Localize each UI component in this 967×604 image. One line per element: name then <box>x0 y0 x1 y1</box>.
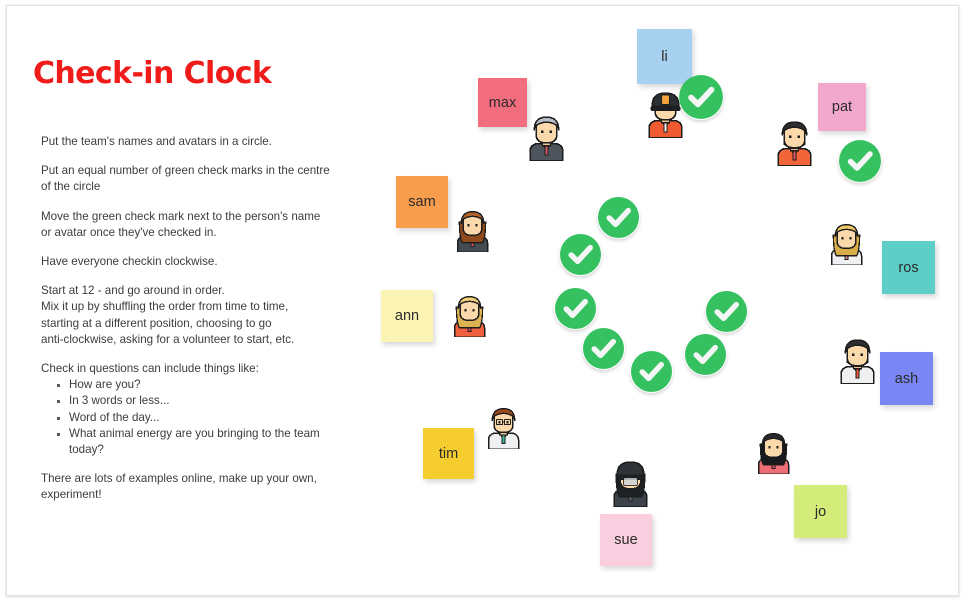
sticky-note-ash[interactable]: ash <box>880 352 933 405</box>
check-mark-pool-7[interactable] <box>705 290 748 333</box>
order-line-1: Start at 12 - and go around in order. <box>41 283 331 299</box>
page-title: Check-in Clock <box>33 56 271 91</box>
sticky-note-label: ann <box>395 308 419 324</box>
sticky-note-label: sue <box>614 532 637 548</box>
sticky-note-pat[interactable]: pat <box>818 83 866 131</box>
check-mark-pool-1[interactable] <box>597 196 640 239</box>
check-mark-pool-2[interactable] <box>559 233 602 276</box>
sticky-note-label: tim <box>439 446 458 462</box>
sticky-note-jo[interactable]: jo <box>794 485 847 538</box>
sticky-note-tim[interactable]: tim <box>423 428 474 479</box>
whiteboard-canvas: Check-in Clock Put the team's names and … <box>0 0 967 604</box>
check-mark-pool-6[interactable] <box>684 333 727 376</box>
check-in-questions-list: How are you? In 3 words or less... Word … <box>41 377 331 458</box>
ros-avatar[interactable] <box>824 220 869 265</box>
sticky-note-label: jo <box>815 504 826 520</box>
sticky-note-label: ash <box>895 371 918 387</box>
sticky-note-ann[interactable]: ann <box>381 290 433 342</box>
sticky-note-label: pat <box>832 99 852 115</box>
jo-avatar[interactable] <box>751 429 796 474</box>
sticky-note-sam[interactable]: sam <box>396 176 448 228</box>
instruction-paragraph-4: Have everyone checkin clockwise. <box>41 254 331 270</box>
closing-paragraph: There are lots of examples online, make … <box>41 471 331 503</box>
order-line-4: anti-clockwise, asking for a volunteer t… <box>41 332 331 348</box>
instruction-paragraph-3: Move the green check mark next to the pe… <box>41 209 331 241</box>
tim-avatar[interactable] <box>481 404 526 449</box>
order-line-2: Mix it up by shuffling the order from ti… <box>41 299 331 315</box>
instructions-block: Put the team's names and avatars in a ci… <box>41 134 331 517</box>
sticky-note-max[interactable]: max <box>478 78 527 127</box>
list-item: What animal energy are you bringing to t… <box>55 426 331 458</box>
pat-avatar[interactable] <box>770 117 819 166</box>
sticky-note-label: ros <box>898 260 918 276</box>
ash-avatar[interactable] <box>833 335 882 384</box>
sticky-note-ros[interactable]: ros <box>882 241 935 294</box>
instruction-paragraph-1: Put the team's names and avatars in a ci… <box>41 134 331 150</box>
order-line-3: starting at a different position, choosi… <box>41 316 331 332</box>
check-mark-pool-3[interactable] <box>554 287 597 330</box>
list-item: How are you? <box>55 377 331 393</box>
sticky-note-sue[interactable]: sue <box>600 514 652 566</box>
sam-avatar[interactable] <box>450 207 495 252</box>
sticky-note-label: sam <box>408 194 435 210</box>
ann-avatar[interactable] <box>447 292 492 337</box>
questions-intro: Check in questions can include things li… <box>41 361 331 377</box>
list-item: Word of the day... <box>55 410 331 426</box>
check-mark-assigned-li[interactable] <box>678 74 724 120</box>
max-avatar[interactable] <box>522 112 571 161</box>
list-item: In 3 words or less... <box>55 393 331 409</box>
check-mark-assigned-pat[interactable] <box>838 139 882 183</box>
check-mark-pool-5[interactable] <box>630 350 673 393</box>
sticky-note-label: max <box>489 95 516 111</box>
check-mark-pool-4[interactable] <box>582 327 625 370</box>
instruction-paragraph-2: Put an equal number of green check marks… <box>41 163 331 195</box>
sticky-note-label: li <box>661 49 667 65</box>
sue-avatar[interactable] <box>606 458 655 507</box>
